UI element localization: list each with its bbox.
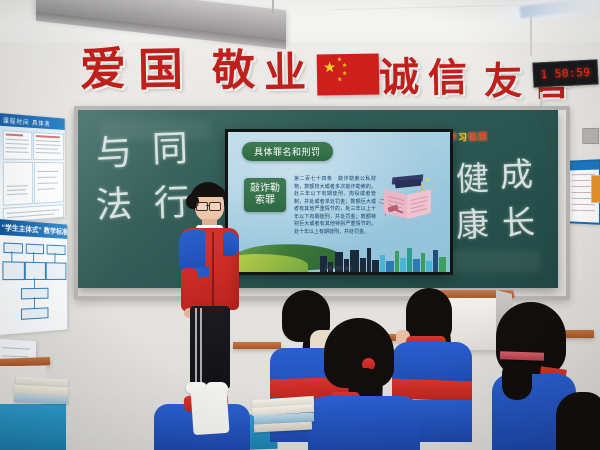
socialist-core-values-wall-text: 爱 国 敬 业 ★ ★ ★ ★ ★ 诚 信 友 善 <box>72 40 542 100</box>
graduation-cap-icon <box>395 179 422 189</box>
presenter-pants-stripe-2 <box>200 308 202 384</box>
presenter-glasses-right-lens <box>209 202 221 211</box>
presenter-glasses-left-lens <box>196 202 208 211</box>
student5-hair <box>556 392 600 450</box>
wall-char-2: 国 <box>138 47 184 93</box>
wall-char-3: 敬 <box>212 50 256 94</box>
desk-blue-panel-left <box>0 404 66 450</box>
flag-star-small-2: ★ <box>342 63 347 69</box>
xuexi-qiangguo-badge: 学 习 强 国 <box>448 131 494 145</box>
slide-title: 具体罪名和刑罚 <box>242 142 333 161</box>
screen-footer-mark: CREATIVE <box>325 266 352 271</box>
white-bag <box>190 387 229 435</box>
poster-mini-card-3 <box>3 162 33 206</box>
chalk-left-char-3: 法 <box>95 187 133 225</box>
presentation-screen[interactable]: 具体罪名和刑罚 敲诈勒 索罪 第二百七十四条 敲诈勒索公私财物，数额较大或者多次… <box>228 132 450 272</box>
wall-speaker <box>582 128 599 144</box>
wall-control-panel[interactable] <box>591 175 600 203</box>
sparkle-1 <box>426 178 429 181</box>
flag-star-large: ★ <box>323 60 337 75</box>
wall-char-5: 诚 <box>379 58 420 99</box>
slide-body-text: 第二百七十四条 敲诈勒索公私财物，数额较大或者多次敲诈勒索的，处三年以下有期徒刑… <box>294 176 376 236</box>
wall-char-6: 信 <box>428 59 468 99</box>
flow-node-3 <box>47 245 66 255</box>
flow-node-2 <box>26 244 44 255</box>
flow-node-5 <box>25 262 46 280</box>
led-wall-clock: 1 50:59 <box>532 59 598 87</box>
china-flag-plaque: ★ ★ ★ ★ ★ <box>317 53 380 95</box>
wall-char-4: 业 <box>264 52 307 95</box>
chalk-right-char-3: 康 <box>455 207 489 241</box>
wall-poster-schedule: 课程时间 具体表 <box>0 113 65 223</box>
slide-crime-tag-line2: 索罪 <box>255 195 275 207</box>
chalk-right-char-4: 长 <box>501 205 535 239</box>
chalk-right-char-2: 成 <box>499 157 533 191</box>
flag-star-small-3: ★ <box>342 71 347 77</box>
student-right-edge <box>556 392 600 450</box>
ceiling-lamp-left-rod <box>272 0 274 14</box>
poster-mini-card-2 <box>33 132 64 160</box>
sparkle-3 <box>424 190 426 192</box>
slide-artwork-law-book <box>380 174 436 226</box>
graduation-cap-tassel <box>420 182 423 191</box>
slide-crime-tag-line1: 敲诈勒 <box>250 183 280 195</box>
chalk-left-char-2: 同 <box>151 131 188 168</box>
student-presenter <box>168 182 252 404</box>
flow-node-4 <box>2 261 24 280</box>
chalk-left-char-1: 与 <box>95 135 133 173</box>
poster-mini-card-4 <box>34 162 64 204</box>
sparkle-2 <box>431 186 433 188</box>
presenter-fringe <box>193 186 225 197</box>
student4-hair-lower <box>502 360 532 400</box>
classroom-photo-scene: 爱 国 敬 业 ★ ★ ★ ★ ★ 诚 信 友 善 1 50:59 课程时间 具… <box>0 0 600 450</box>
student-center-front <box>310 318 420 450</box>
presenter-pants-stripe-1 <box>195 308 197 384</box>
wall-char-1: 爱 <box>80 46 127 93</box>
stacked-books-right <box>500 351 544 361</box>
wall-poster-teaching-standard: "学生主体式" 教学标准 <box>0 219 67 335</box>
presenter-jacket-zipper <box>212 232 214 308</box>
badge-char-4: 国 <box>478 133 487 142</box>
poster-mini-card-1 <box>3 130 32 160</box>
student3-uniform-blue <box>308 396 420 450</box>
duty-roster-header <box>570 161 599 170</box>
wall-char-7: 友 <box>484 62 523 101</box>
badge-char-3: 强 <box>468 133 477 142</box>
clock-digits: 1 50:59 <box>540 66 590 82</box>
presenter-jacket-shoulder-right <box>223 232 239 256</box>
flag-star-small-4: ★ <box>337 77 342 83</box>
presenter-jacket-shoulder-left <box>179 230 205 272</box>
flow-node-1 <box>3 242 22 253</box>
badge-char-2: 习 <box>458 134 467 143</box>
flow-node-6 <box>46 262 67 280</box>
presenter-glasses-bridge <box>206 205 210 206</box>
book-right-page <box>407 189 431 219</box>
flow-node-8 <box>21 307 48 319</box>
chalk-right-char-1: 健 <box>455 161 489 195</box>
